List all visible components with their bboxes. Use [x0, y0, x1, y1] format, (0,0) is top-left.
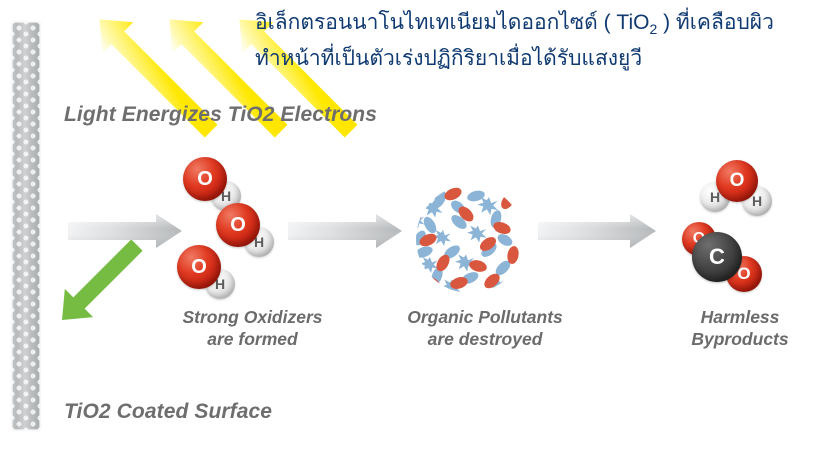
photocatalysis-diagram: อิเล็กตรอนนาโนไทเทเนียมไดออกไซด์ ( TiO2 …: [0, 0, 829, 454]
green-arrow-icon: [48, 231, 151, 334]
thai-caption-line-1: อิเล็กตรอนนาโนไทเทเนียมไดออกไซด์ ( TiO2 …: [255, 8, 829, 44]
thai-caption: อิเล็กตรอนนาโนไทเทเนียมไดออกไซด์ ( TiO2 …: [255, 8, 829, 74]
stage-caption-pollutants: Organic Pollutants are destroyed: [380, 306, 590, 350]
caption-line-2: Byproducts: [660, 328, 820, 350]
hydroxyl-radical-molecule: H O: [177, 245, 239, 303]
caption-line-2: are formed: [150, 328, 355, 350]
carbon-dioxide-molecule: O O C: [682, 222, 768, 294]
oxygen-atom: O: [216, 203, 260, 247]
oxygen-atom: O: [183, 157, 227, 201]
carbon-atom: C: [692, 232, 742, 282]
oxygen-atom: O: [716, 160, 758, 202]
stage-caption-byproducts: Harmless Byproducts: [660, 306, 820, 350]
caption-line-1: Organic Pollutants: [380, 306, 590, 328]
coated-surface-label: TiO2 Coated Surface: [64, 400, 272, 424]
pollutant-cluster-icon: [401, 185, 520, 296]
thai-caption-line-2: ทำหน้าที่เป็นตัวเร่งปฏิกิริยาเมื่อได้รับ…: [255, 44, 829, 74]
light-energizes-label: Light Energizes TiO2 Electrons: [64, 103, 377, 127]
water-molecule: H H O: [700, 160, 776, 218]
oxygen-atom: O: [177, 245, 221, 289]
caption-line-2: are destroyed: [380, 328, 590, 350]
process-arrow-icon: [68, 214, 656, 248]
thai-line1-post: ) ที่เคลือบผิว: [657, 11, 774, 34]
caption-line-1: Harmless: [660, 306, 820, 328]
caption-line-1: Strong Oxidizers: [150, 306, 355, 328]
thai-line1-pre: อิเล็กตรอนนาโนไทเทเนียมไดออกไซด์ ( TiO: [255, 11, 649, 34]
stage-caption-oxidizers: Strong Oxidizers are formed: [150, 306, 355, 350]
